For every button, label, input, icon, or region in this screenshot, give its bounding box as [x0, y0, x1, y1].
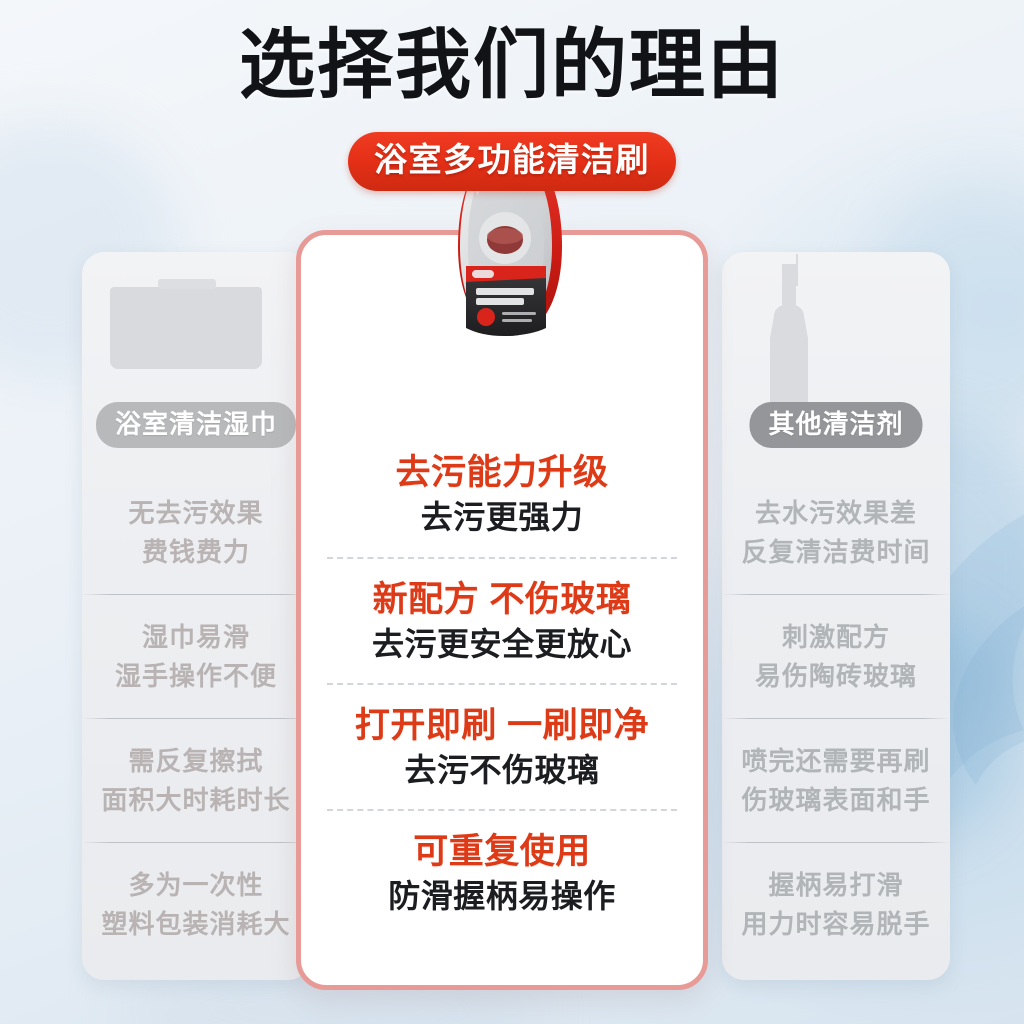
feature-subline: 去污更安全更放心	[372, 624, 632, 664]
left-card-inner: 浴室清洁湿巾 无去污效果 费钱费力 湿巾易滑 湿手操作不便 需反复擦拭 面积大时…	[82, 252, 310, 980]
feature-headline: 打开即刷 一刷即净	[355, 704, 649, 748]
right-card-inner: 其他清洁剂 去水污效果差 反复清洁费时间 刺激配方 易伤陶砖玻璃 喷完还需要再刷…	[722, 252, 950, 980]
feature-headline: 新配方 不伤玻璃	[373, 578, 632, 622]
wipes-pack-icon	[110, 287, 262, 369]
list-item-line-2: 面积大时耗时长	[101, 783, 290, 817]
comparison-card-wipes: 浴室清洁湿巾 无去污效果 费钱费力 湿巾易滑 湿手操作不便 需反复擦拭 面积大时…	[82, 252, 310, 980]
list-item: 喷完还需要再刷 伤玻璃表面和手	[722, 718, 950, 842]
feature-item: 打开即刷 一刷即净 去污不伤玻璃	[327, 683, 677, 809]
list-item: 无去污效果 费钱费力	[82, 470, 310, 594]
left-card-header: 浴室清洁湿巾	[96, 402, 296, 448]
list-item-line-2: 易伤陶砖玻璃	[755, 659, 917, 693]
list-item-line-2: 湿手操作不便	[115, 659, 277, 693]
feature-item: 去污能力升级 去污更强力	[327, 431, 677, 557]
feature-subline: 防滑握柄易操作	[388, 876, 616, 916]
hero-card-bathroom-brush: 去污能力升级 去污更强力 新配方 不伤玻璃 去污更安全更放心 打开即刷 一刷即净…	[296, 230, 708, 990]
list-item-line-1: 喷完还需要再刷	[741, 744, 930, 778]
list-item-line-2: 费钱费力	[142, 535, 250, 569]
feature-subline: 去污不伤玻璃	[404, 750, 599, 790]
list-item-line-1: 多为一次性	[128, 868, 263, 902]
list-item-line-2: 用力时容易脱手	[741, 907, 930, 941]
list-item-line-1: 握柄易打滑	[768, 868, 903, 902]
list-item: 刺激配方 易伤陶砖玻璃	[722, 594, 950, 718]
list-item: 湿巾易滑 湿手操作不便	[82, 594, 310, 718]
list-item-line-1: 刺激配方	[782, 620, 890, 654]
list-item-line-2: 塑料包装消耗大	[101, 907, 290, 941]
list-item-line-2: 伤玻璃表面和手	[741, 783, 930, 817]
list-item-line-1: 去水污效果差	[755, 496, 917, 530]
feature-item: 可重复使用 防滑握柄易操作	[327, 809, 677, 935]
right-card-list: 去水污效果差 反复清洁费时间 刺激配方 易伤陶砖玻璃 喷完还需要再刷 伤玻璃表面…	[722, 470, 950, 966]
page-title: 选择我们的理由	[0, 18, 1024, 114]
list-item: 需反复擦拭 面积大时耗时长	[82, 718, 310, 842]
left-card-list: 无去污效果 费钱费力 湿巾易滑 湿手操作不便 需反复擦拭 面积大时耗时长 多为一…	[82, 470, 310, 966]
list-item-line-1: 湿巾易滑	[142, 620, 250, 654]
feature-headline: 可重复使用	[413, 830, 591, 874]
list-item: 握柄易打滑 用力时容易脱手	[722, 842, 950, 966]
feature-subline: 去污更强力	[421, 497, 584, 537]
list-item-line-1: 需反复擦拭	[128, 744, 263, 778]
feature-headline: 去污能力升级	[395, 451, 608, 495]
list-item-line-2: 反复清洁费时间	[741, 535, 930, 569]
feature-item: 新配方 不伤玻璃 去污更安全更放心	[327, 557, 677, 683]
list-item-line-1: 无去污效果	[128, 496, 263, 530]
list-item: 去水污效果差 反复清洁费时间	[722, 470, 950, 594]
list-item: 多为一次性 塑料包装消耗大	[82, 842, 310, 966]
hero-feature-list: 去污能力升级 去污更强力 新配方 不伤玻璃 去污更安全更放心 打开即刷 一刷即净…	[301, 431, 703, 935]
right-card-header: 其他清洁剂	[749, 402, 922, 448]
infographic-canvas: 选择我们的理由 浴室清洁湿巾 无去污效果 费钱费力 湿巾易滑 湿手操作不便 需反…	[0, 0, 1024, 1024]
hero-product-badge: 浴室多功能清洁刷	[348, 132, 676, 191]
comparison-card-other-cleaners: 其他清洁剂 去水污效果差 反复清洁费时间 刺激配方 易伤陶砖玻璃 喷完还需要再刷…	[722, 252, 950, 980]
